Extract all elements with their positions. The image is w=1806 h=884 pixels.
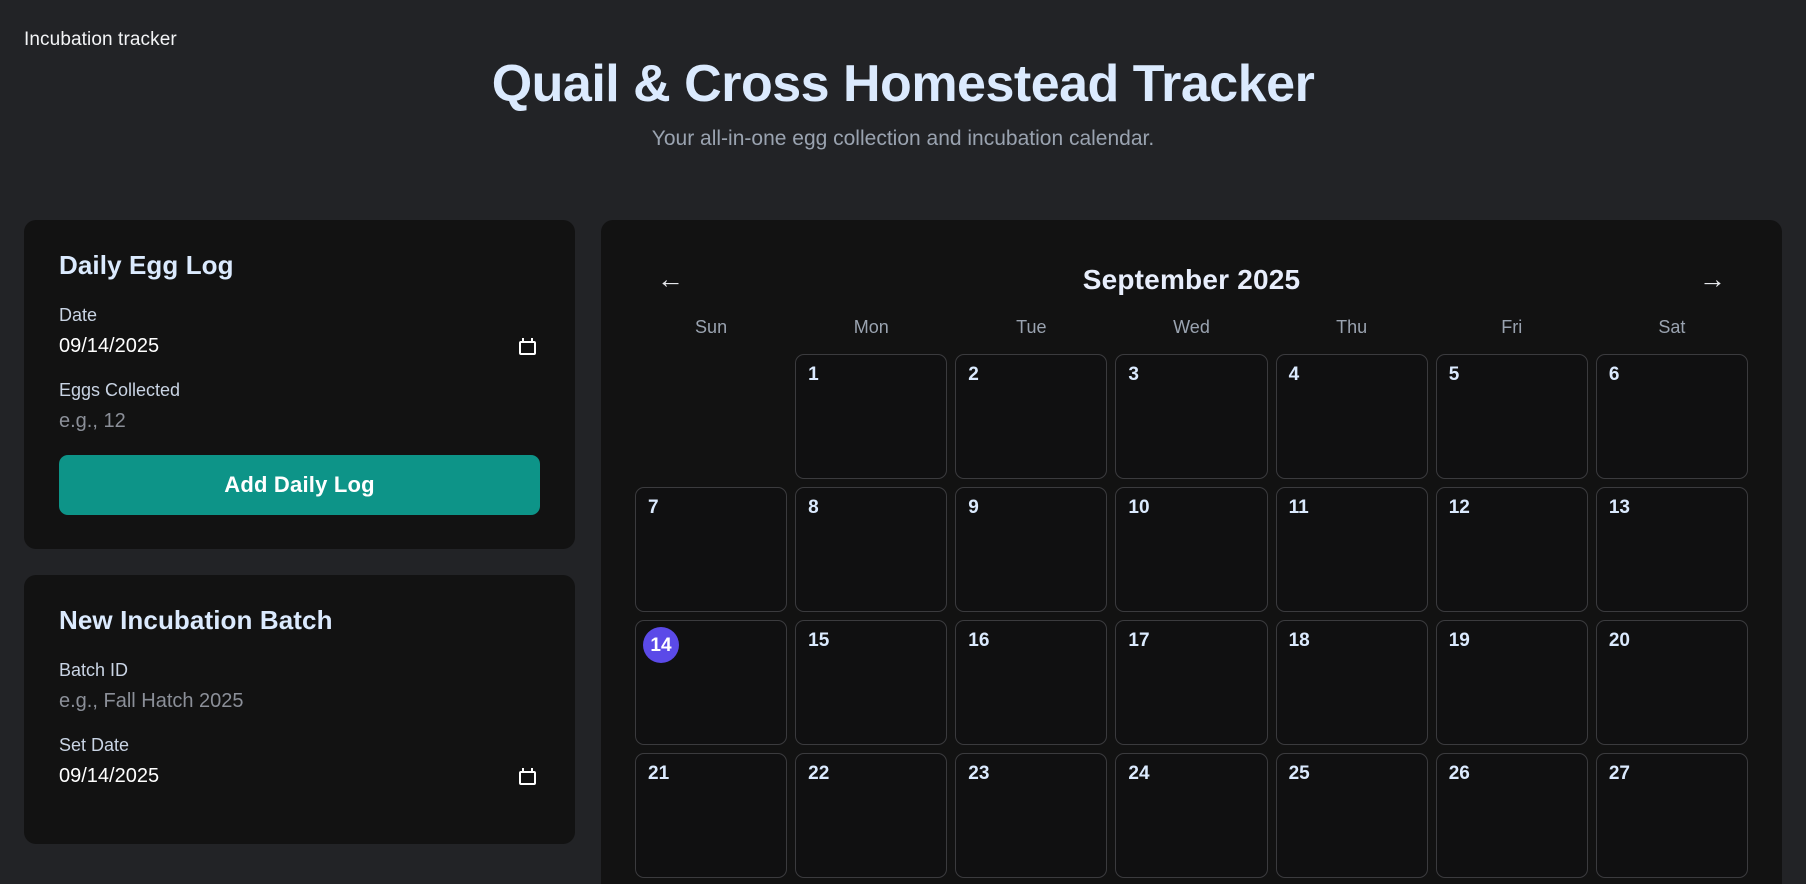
- calendar-day-cell[interactable]: 6: [1596, 354, 1748, 479]
- day-number: 20: [1609, 631, 1735, 650]
- day-number: 16: [968, 631, 1094, 650]
- weekday-label-sun: Sun: [635, 317, 787, 344]
- calendar-day-cell[interactable]: 19: [1436, 620, 1588, 745]
- batch-set-date-input[interactable]: 09/14/2025: [59, 765, 540, 788]
- day-number: 4: [1289, 365, 1415, 384]
- calendar-day-cell[interactable]: 4: [1276, 354, 1428, 479]
- calendar-weekday-header: SunMonTueWedThuFriSat: [635, 317, 1748, 344]
- day-number: 2: [968, 365, 1094, 384]
- daily-log-date-input[interactable]: 09/14/2025: [59, 335, 540, 358]
- hero-section: Quail & Cross Homestead Tracker Your all…: [0, 55, 1806, 151]
- day-number: 6: [1609, 365, 1735, 384]
- daily-log-date-field: Date 09/14/2025: [59, 305, 540, 358]
- weekday-label-sat: Sat: [1596, 317, 1748, 344]
- calendar-picker-icon[interactable]: [519, 338, 536, 355]
- calendar-day-cell[interactable]: 14: [635, 620, 787, 745]
- calendar-header: ← September 2025 →: [635, 250, 1748, 317]
- calendar-day-cell[interactable]: 13: [1596, 487, 1748, 612]
- calendar-empty-cell: [635, 354, 787, 479]
- day-number: 15: [808, 631, 934, 650]
- day-number: 27: [1609, 764, 1735, 783]
- calendar-day-cell[interactable]: 9: [955, 487, 1107, 612]
- daily-log-eggs-field: Eggs Collected e.g., 12: [59, 380, 540, 433]
- day-number: 21: [648, 764, 774, 783]
- next-month-arrow-icon[interactable]: →: [1689, 262, 1736, 297]
- page-subtitle: Your all-in-one egg collection and incub…: [0, 127, 1806, 151]
- add-daily-log-button[interactable]: Add Daily Log: [59, 455, 540, 515]
- calendar-day-cell[interactable]: 11: [1276, 487, 1428, 612]
- calendar-day-cell[interactable]: 12: [1436, 487, 1588, 612]
- day-number: 11: [1289, 498, 1415, 517]
- calendar-day-cell[interactable]: 25: [1276, 753, 1428, 878]
- calendar-day-cell[interactable]: 22: [795, 753, 947, 878]
- calendar-day-cell[interactable]: 7: [635, 487, 787, 612]
- day-number: 18: [1289, 631, 1415, 650]
- calendar-day-cell[interactable]: 27: [1596, 753, 1748, 878]
- batch-id-field: Batch ID e.g., Fall Hatch 2025: [59, 660, 540, 713]
- calendar-day-cell[interactable]: 21: [635, 753, 787, 878]
- batch-id-label: Batch ID: [59, 660, 540, 681]
- calendar-day-cell[interactable]: 23: [955, 753, 1107, 878]
- calendar-day-cell[interactable]: 15: [795, 620, 947, 745]
- new-incubation-batch-title: New Incubation Batch: [59, 605, 540, 636]
- daily-egg-log-title: Daily Egg Log: [59, 250, 540, 281]
- day-number: 23: [968, 764, 1094, 783]
- prev-month-arrow-icon[interactable]: ←: [647, 262, 694, 297]
- day-number: 26: [1449, 764, 1575, 783]
- calendar-day-cell[interactable]: 5: [1436, 354, 1588, 479]
- calendar-month-title: September 2025: [1083, 264, 1301, 296]
- day-number: 17: [1128, 631, 1254, 650]
- batch-id-input[interactable]: e.g., Fall Hatch 2025: [59, 690, 540, 713]
- day-number: 24: [1128, 764, 1254, 783]
- forms-column: Daily Egg Log Date 09/14/2025 Eggs Colle…: [24, 220, 575, 844]
- page-title: Quail & Cross Homestead Tracker: [0, 55, 1806, 113]
- daily-log-eggs-placeholder: e.g., 12: [59, 410, 126, 433]
- batch-set-date-field: Set Date 09/14/2025: [59, 735, 540, 788]
- day-number: 19: [1449, 631, 1575, 650]
- daily-log-date-label: Date: [59, 305, 540, 326]
- daily-log-date-value: 09/14/2025: [59, 335, 159, 358]
- weekday-label-wed: Wed: [1115, 317, 1267, 344]
- calendar-day-cell[interactable]: 24: [1115, 753, 1267, 878]
- new-incubation-batch-card: New Incubation Batch Batch ID e.g., Fall…: [24, 575, 575, 844]
- day-number: 12: [1449, 498, 1575, 517]
- weekday-label-thu: Thu: [1276, 317, 1428, 344]
- calendar-day-cell[interactable]: 2: [955, 354, 1107, 479]
- batch-id-placeholder: e.g., Fall Hatch 2025: [59, 690, 244, 713]
- calendar-day-cell[interactable]: 8: [795, 487, 947, 612]
- calendar-day-cell[interactable]: 1: [795, 354, 947, 479]
- daily-log-eggs-input[interactable]: e.g., 12: [59, 410, 540, 433]
- day-number: 22: [808, 764, 934, 783]
- calendar-day-grid: 1234567891011121314151617181920212223242…: [635, 354, 1748, 884]
- app-root: Incubation tracker Quail & Cross Homeste…: [0, 0, 1806, 884]
- calendar-day-cell[interactable]: 20: [1596, 620, 1748, 745]
- weekday-label-fri: Fri: [1436, 317, 1588, 344]
- calendar-day-cell[interactable]: 18: [1276, 620, 1428, 745]
- day-number: 3: [1128, 365, 1254, 384]
- day-number: 13: [1609, 498, 1735, 517]
- weekday-label-tue: Tue: [955, 317, 1107, 344]
- calendar-day-cell[interactable]: 10: [1115, 487, 1267, 612]
- selected-day-badge: 14: [643, 627, 679, 663]
- daily-log-eggs-label: Eggs Collected: [59, 380, 540, 401]
- calendar-picker-icon[interactable]: [519, 768, 536, 785]
- calendar-panel: ← September 2025 → SunMonTueWedThuFriSat…: [601, 220, 1782, 884]
- day-number: 25: [1289, 764, 1415, 783]
- day-number: 5: [1449, 365, 1575, 384]
- day-number: 8: [808, 498, 934, 517]
- app-brand-label: Incubation tracker: [24, 29, 177, 51]
- day-number: 10: [1128, 498, 1254, 517]
- weekday-label-mon: Mon: [795, 317, 947, 344]
- calendar-day-cell[interactable]: 3: [1115, 354, 1267, 479]
- calendar-day-cell[interactable]: 26: [1436, 753, 1588, 878]
- day-number: 7: [648, 498, 774, 517]
- batch-set-date-value: 09/14/2025: [59, 765, 159, 788]
- day-number: 1: [808, 365, 934, 384]
- batch-set-date-label: Set Date: [59, 735, 540, 756]
- day-number: 9: [968, 498, 1094, 517]
- calendar-day-cell[interactable]: 17: [1115, 620, 1267, 745]
- main-content: Daily Egg Log Date 09/14/2025 Eggs Colle…: [24, 220, 1782, 884]
- daily-egg-log-card: Daily Egg Log Date 09/14/2025 Eggs Colle…: [24, 220, 575, 549]
- calendar-day-cell[interactable]: 16: [955, 620, 1107, 745]
